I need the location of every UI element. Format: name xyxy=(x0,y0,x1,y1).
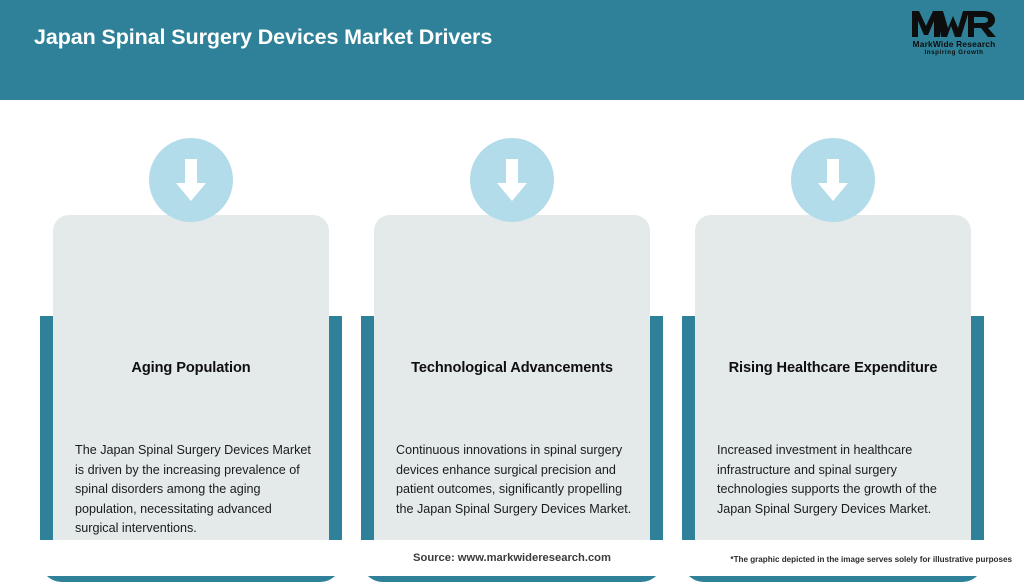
driver-card-3[interactable]: Rising Healthcare Expenditure Increased … xyxy=(682,138,984,544)
card-surface: Aging Population The Japan Spinal Surger… xyxy=(53,215,329,573)
page-title: Japan Spinal Surgery Devices Market Driv… xyxy=(34,25,492,50)
card-title: Aging Population xyxy=(71,358,311,379)
card-surface: Technological Advancements Continuous in… xyxy=(374,215,650,573)
logo-tagline: Inspiring Growth xyxy=(898,49,1010,57)
brand-logo: MarkWide Research Inspiring Growth xyxy=(898,8,1010,66)
mwr-logo-icon xyxy=(911,8,997,38)
arrow-down-icon xyxy=(470,138,554,222)
disclaimer-label: *The graphic depicted in the image serve… xyxy=(730,555,1012,564)
arrow-down-glyph xyxy=(174,157,208,203)
logo-company-name: MarkWide Research xyxy=(898,39,1010,49)
arrow-down-glyph xyxy=(495,157,529,203)
card-surface: Rising Healthcare Expenditure Increased … xyxy=(695,215,971,573)
card-body-text: Continuous innovations in spinal surgery… xyxy=(396,441,634,519)
header-bar: Japan Spinal Surgery Devices Market Driv… xyxy=(0,0,1024,100)
card-title: Technological Advancements xyxy=(392,358,632,379)
card-body-text: Increased investment in healthcare infra… xyxy=(717,441,955,519)
footer-bar: Source: www.markwideresearch.com *The gr… xyxy=(0,540,1024,576)
drivers-card-group: Aging Population The Japan Spinal Surger… xyxy=(0,100,1024,540)
arrow-down-glyph xyxy=(816,157,850,203)
card-body-text: The Japan Spinal Surgery Devices Market … xyxy=(75,441,313,539)
arrow-down-icon xyxy=(149,138,233,222)
driver-card-1[interactable]: Aging Population The Japan Spinal Surger… xyxy=(40,138,342,544)
arrow-down-icon xyxy=(791,138,875,222)
card-title: Rising Healthcare Expenditure xyxy=(713,358,953,379)
driver-card-2[interactable]: Technological Advancements Continuous in… xyxy=(361,138,663,544)
